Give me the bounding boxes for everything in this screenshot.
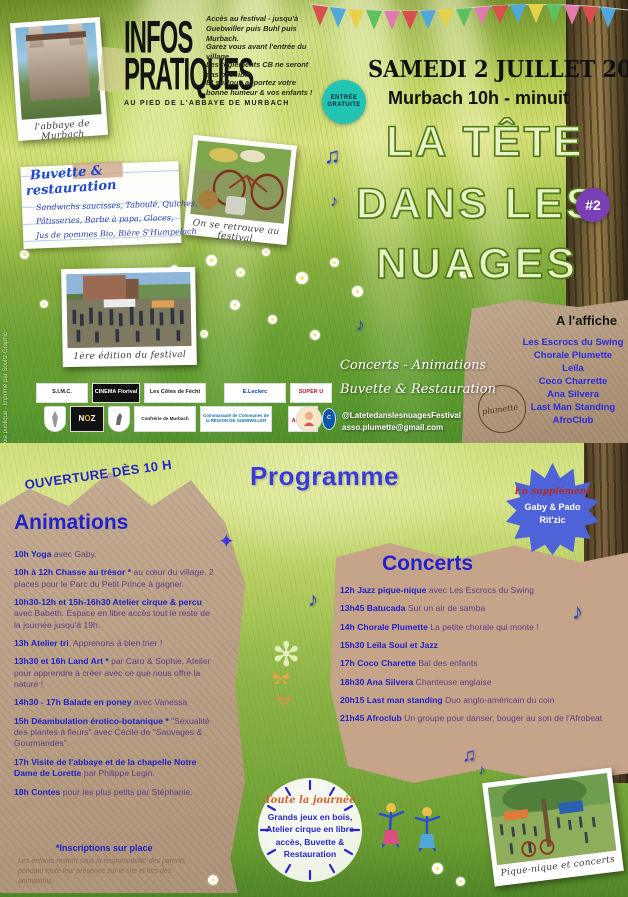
animation-item: 14h30 - 17h Balade en poney avec Vanessa (14, 697, 218, 708)
abbey-building (26, 36, 91, 101)
flower (268, 315, 277, 324)
flower (330, 258, 339, 267)
concert-desc: Bal des enfants (416, 658, 478, 668)
concert-time: 15h30 Leïla Soul et Jazz (340, 640, 438, 650)
concert-item: 14h Chorale Plumette La petite chorale q… (340, 622, 610, 633)
sponsor-logo-6: NOZ (70, 406, 104, 432)
concert-desc: La petite chorale qui monte ! (428, 622, 539, 632)
music-note-icon: ♫ (324, 143, 341, 169)
animation-item: 18h Contes pour les plus petits par Stép… (14, 787, 218, 798)
animation-item: 10h à 12h Chasse au trésor * au cœur du … (14, 567, 218, 590)
concerts-title: Concerts (382, 552, 473, 576)
abbey-photo-caption: l'abbaye de Murbach (22, 114, 104, 149)
music-note-icon: ♪ (478, 761, 485, 777)
title-line-2: DANS LES (356, 180, 597, 229)
concert-desc: Chanteuse anglaise (413, 677, 491, 687)
sponsor-logo-7 (108, 406, 130, 432)
affiche-artist-2: Leïla (518, 363, 628, 374)
inscriptions-note: *Inscriptions sur place (56, 843, 153, 853)
animation-time: 14h30 - 17h Balade en poney (14, 697, 132, 707)
festival-date: SAMEDI 2 JUILLET 2022 (368, 55, 628, 83)
sponsor-logo-5 (44, 406, 66, 432)
concert-item: 17h Coco Charette Bal des enfants (340, 658, 610, 669)
bottom-panel: OUVERTURE DÈS 10 H Programme Animations … (0, 443, 628, 897)
flower (40, 300, 48, 308)
free-entry-line1: ENTRÉE (331, 95, 358, 103)
title-line-1: LA TÊTE (386, 118, 585, 167)
concerts-list: 12h Jazz pique-nique avec Les Escrocs du… (340, 585, 610, 732)
flower (200, 330, 208, 338)
animation-desc: avec Babeth. Espace en libre accès tout … (14, 608, 210, 629)
affiche-artist-1: Chorale Plumette (518, 350, 628, 361)
concert-time: 12h Jazz pique-nique (340, 585, 426, 595)
top-panel: l'abbaye de Murbach On se retrouve au (0, 0, 628, 443)
butterfly-icon (276, 693, 292, 711)
animation-desc: avec Gaby. (51, 549, 96, 559)
allday-badge: Toute la journée Grands jeux en bois, At… (258, 778, 362, 882)
animation-desc: . Apprenons à bien trier ! (69, 638, 163, 648)
script-line-1: Concerts - Animations (340, 358, 486, 373)
animation-item: 15h Déambulation érotico-botanique * "Se… (14, 716, 218, 750)
animation-time: 13h30 et 16h Land Art * (14, 656, 109, 666)
concert-item: 12h Jazz pique-nique avec Les Escrocs du… (340, 585, 610, 596)
concert-time: 14h Chorale Plumette (340, 622, 428, 632)
animation-item: 13h30 et 16h Land Art * par Caro & Sophi… (14, 656, 218, 690)
supplement-body: Gaby & Pado Rit'zic (505, 501, 600, 526)
concert-item: 13h45 Batucada Sur un air de samba (340, 603, 610, 614)
animation-time: 10h à 12h Chasse au trésor * (14, 567, 131, 577)
flower (456, 877, 465, 886)
animation-desc: avec Vanessa (132, 697, 188, 707)
flower (208, 875, 218, 885)
concert-item: 20h15 Last man standing Duo anglo-améric… (340, 695, 610, 706)
plumette-stamp-label: plumette (482, 403, 519, 417)
animation-desc: pour les plus petits par Stéphanie. (60, 787, 192, 797)
free-entry-badge: ENTRÉE GRATUITE (322, 80, 366, 124)
infos-paragraph-1: Garez vous avant l'entrée du village. (206, 42, 318, 62)
flower (432, 863, 443, 874)
animations-list: 10h Yoga avec Gaby. 10h à 12h Chasse au … (14, 549, 218, 805)
concert-desc: avec Les Escrocs du Swing (426, 585, 533, 595)
script-line-2: Buvette & Restauration (340, 382, 496, 397)
infos-paragraph-2: Les réglements CB ne seront pas possible… (206, 60, 318, 80)
flower (230, 300, 240, 310)
concert-time: 13h45 Batucada (340, 603, 405, 613)
title-line-3: NUAGES (376, 240, 578, 289)
concert-desc: Duo anglo-américain du coin (443, 695, 555, 705)
concert-item: 18h30 Ana Silvera Chanteuse anglaise (340, 677, 610, 688)
infos-paragraph-3: Et surtout, apportez votre bonne humeur … (206, 78, 318, 98)
concert-item: 21h45 Afroclub Un groupe pour danser, bo… (340, 713, 610, 724)
affiche-artist-3: Coco Charrette (518, 376, 628, 387)
supplement-line1: En supplément (505, 487, 600, 497)
abbey-photo-image (15, 22, 101, 119)
animation-time: 15h Déambulation érotico-botanique * (14, 716, 169, 726)
legal-notice: Ne pas jeter sur la voie publique - Impr… (2, 332, 11, 443)
sponsor-logo-0: S.I.M.C. (36, 383, 88, 403)
supplement-starburst: En supplément Gaby & Pado Rit'zic (505, 461, 600, 556)
festival-poster: l'abbaye de Murbach On se retrouve au (0, 0, 628, 897)
crowd-photo-caption: 1ère édition du festival (68, 346, 192, 367)
flower (352, 286, 363, 297)
animation-time: 10h30-12h et 15h-16h30 Atelier cirque & … (14, 597, 202, 607)
edition-badge: #2 (576, 188, 610, 222)
animation-item: 17h Visite de l'abbaye et de la chapelle… (14, 757, 218, 780)
picnic-photo: Pique-nique et concerts (482, 767, 624, 886)
animation-item: 10h30-12h et 15h-16h30 Atelier cirque & … (14, 597, 218, 631)
bike-photo-image (190, 140, 291, 223)
flower (296, 272, 308, 284)
animation-time: 10h Yoga (14, 549, 51, 559)
flower (236, 268, 245, 277)
crowd-photo: 1ère édition du festival (61, 267, 197, 367)
infos-paragraph-0: Accès au festival - jusqu'à Guebwiller p… (206, 14, 318, 44)
allday-body: Grands jeux en bois, Atelier cirque en l… (258, 811, 362, 861)
sponsor-logo-4: SUPER U (290, 383, 332, 403)
sponsor-logo-8: Confrérie de Murbach (134, 406, 196, 432)
affiche-artist-6: AfroClub (518, 415, 628, 426)
dancers-illustration (375, 798, 455, 873)
animation-desc: par Philippe Legin. (81, 768, 155, 778)
allday-title: Toute la journée (258, 795, 362, 806)
music-note-icon: ♪ (330, 193, 338, 211)
animation-time: 13h Atelier tri (14, 638, 69, 648)
abbey-photo: l'abbaye de Murbach (10, 17, 108, 141)
sponsor-logo-11 (296, 406, 322, 432)
music-note-icon: ♫ (462, 745, 476, 767)
animation-time: 18h Contes (14, 787, 60, 797)
festival-place-time: Murbach 10h - minuit (388, 88, 569, 109)
infos-subtitle: AU PIED DE L'ABBAYE DE MURBACH (124, 100, 290, 107)
supplement-line2: Gaby & Pado (524, 502, 580, 512)
flower (310, 330, 320, 340)
sponsor-logo-3: E.Leclerc (224, 383, 286, 403)
concert-time: 18h30 Ana Silvera (340, 677, 413, 687)
parents-disclaimer: Les enfants restent sous la responsabili… (18, 857, 198, 887)
concert-time: 21h45 Afroclub (340, 713, 402, 723)
animations-title: Animations (14, 511, 128, 535)
affiche-title: A l'affiche (556, 313, 617, 328)
flower (206, 255, 217, 266)
affiche-artist-5: Last Man Standing (518, 402, 628, 413)
programme-title: Programme (250, 461, 399, 492)
facebook-handle[interactable]: @LatetedanslesnuagesFestival (342, 411, 461, 420)
affiche-artist-4: Ana Silvera (518, 389, 628, 400)
affiche-artist-0: Les Escrocs du Swing (518, 337, 628, 348)
bike-photo: On se retrouve au festival (183, 135, 297, 245)
concert-item: 15h30 Leïla Soul et Jazz (340, 640, 610, 651)
music-note-icon: ♪ (572, 599, 583, 625)
concert-time: 20h15 Last man standing (340, 695, 443, 705)
animation-item: 13h Atelier tri. Apprenons à bien trier … (14, 638, 218, 649)
bunting-flags (310, 0, 628, 34)
concert-desc: Sur un air de samba (405, 603, 485, 613)
sparkle-icon: ✦ (218, 529, 235, 554)
supplement-line3: Rit'zic (539, 515, 565, 525)
concert-time: 17h Coco Charette (340, 658, 416, 668)
dandelion-icon: ✻ (272, 635, 301, 675)
free-entry-line2: GRATUITE (327, 102, 360, 110)
picnic-photo-image (488, 773, 617, 865)
butterfly-icon (272, 671, 290, 690)
contact-email[interactable]: asso.plumette@gmail.com (342, 423, 443, 432)
concert-desc: Un groupe pour danser, bouger au son de … (402, 713, 602, 723)
flower (20, 250, 29, 259)
sponsor-logo-1: CINEMA Florival (92, 383, 140, 403)
sponsor-logo-9: Communauté de Communes de la RÉGION DE G… (200, 406, 272, 432)
animation-item: 10h Yoga avec Gaby. (14, 549, 218, 560)
sponsor-logo-12: C (322, 408, 336, 430)
music-note-icon: ♪ (356, 315, 365, 335)
crowd-photo-image (66, 272, 191, 348)
sponsor-logo-2: Les Côtes de Fécht (144, 383, 206, 403)
music-note-icon: ♪ (308, 589, 318, 612)
